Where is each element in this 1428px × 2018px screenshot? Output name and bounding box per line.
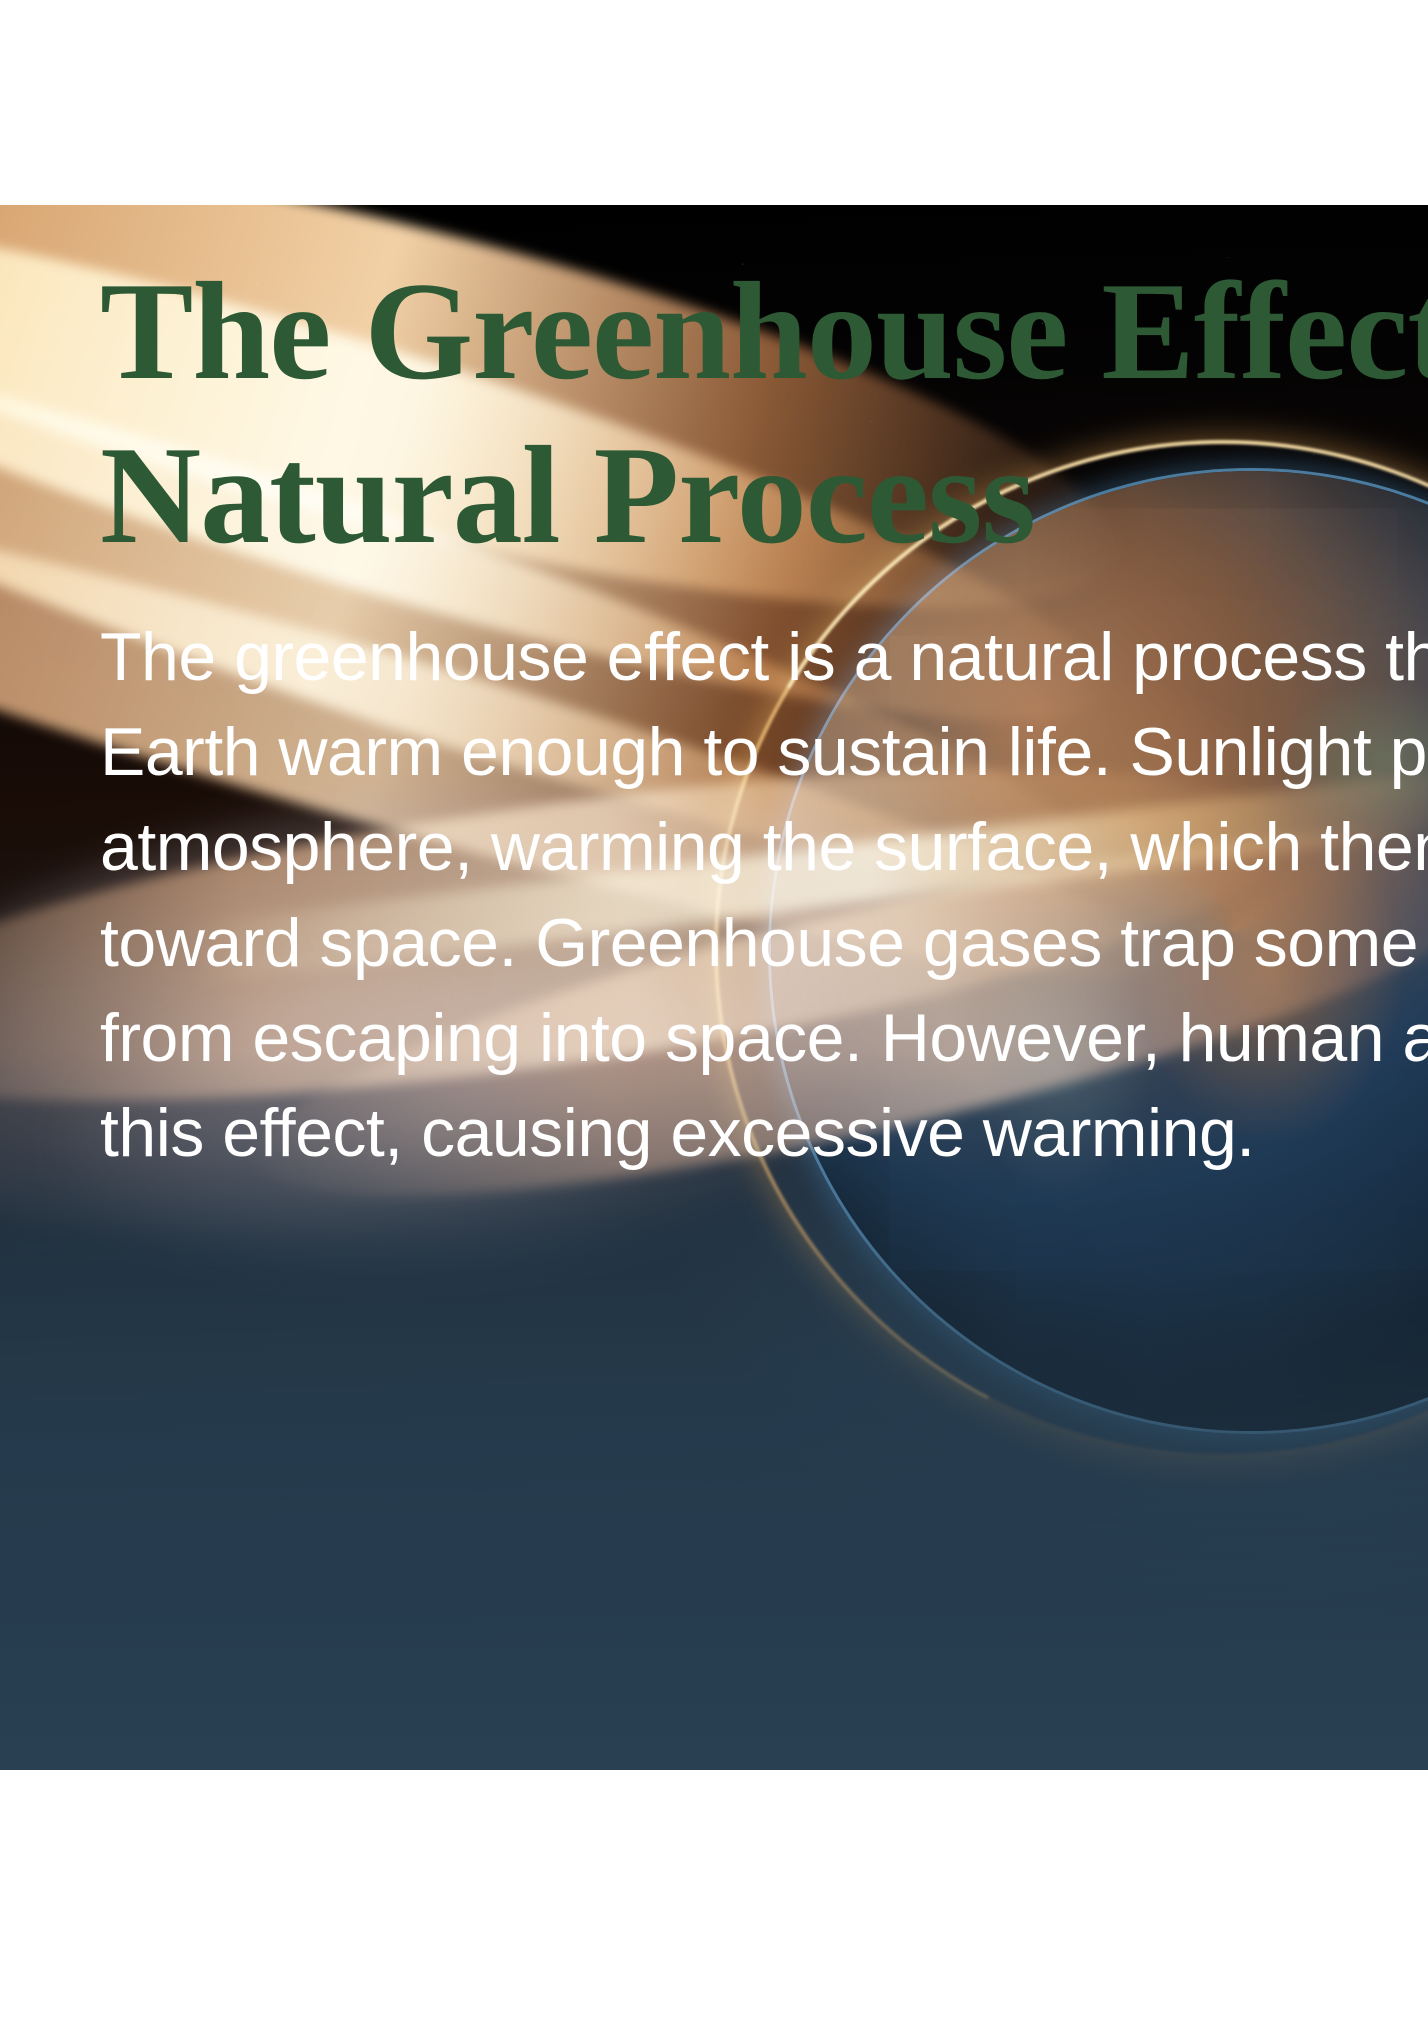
slide-title-line-2: Natural Process [100,414,1428,578]
slide-body-line-2: Earth warm enough to sustain life. Sunli… [100,705,1428,800]
slide-title: The Greenhouse Effect: A Natural Process [100,250,1428,578]
slide-body-line-4: toward space. Greenhouse gases trap some… [100,896,1428,991]
presentation-slide: The Greenhouse Effect: A Natural Process… [0,205,1428,1770]
slide-body-line-6: this effect, causing excessive warming. [100,1086,1428,1181]
slide-body-line-5: from escaping into space. However, human… [100,991,1428,1086]
slide-title-line-1: The Greenhouse Effect: A [100,250,1428,414]
document-page: The Greenhouse Effect: A Natural Process… [0,0,1428,2018]
slide-body-text: The greenhouse effect is a natural proce… [100,610,1428,1181]
slide-body-line-1: The greenhouse effect is a natural proce… [100,610,1428,705]
slide-body-line-3: atmosphere, warming the surface, which t… [100,800,1428,895]
